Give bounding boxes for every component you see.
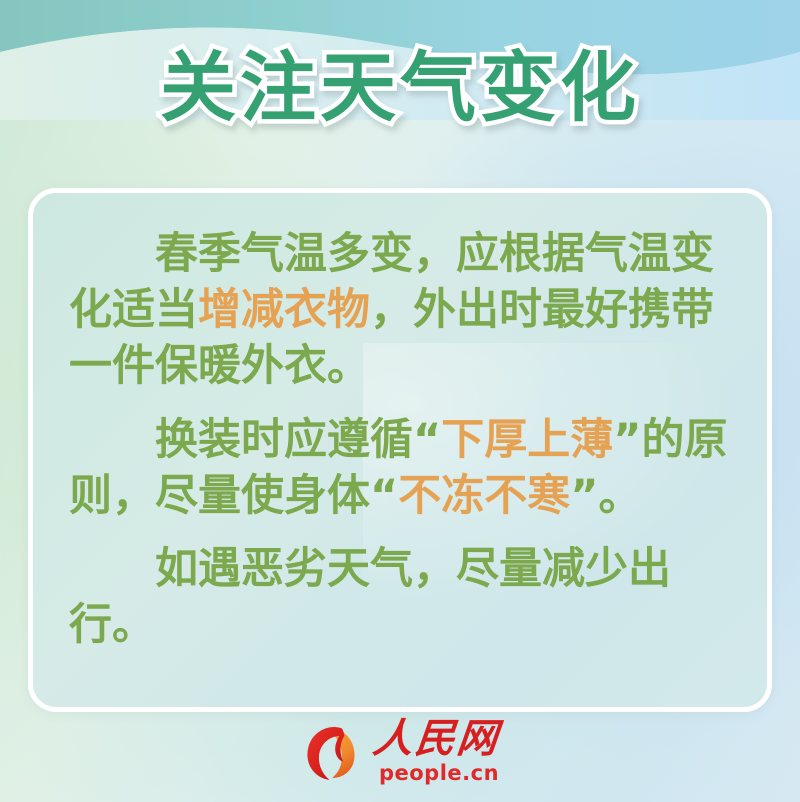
brand-name-cn: 人民网 xyxy=(371,719,501,759)
tip-2-quote-open-2: “ xyxy=(370,471,398,521)
tip-1-segment-highlight: 增减衣物 xyxy=(198,285,370,335)
tip-paragraph-2: 换装时应遵循“下厚上薄”的原则，尽量使身体“不冻不寒”。 xyxy=(69,413,735,525)
tip-2-segment-highlight-1: 下厚上薄 xyxy=(441,415,613,465)
weather-tips-poster: 关注天气变化 春季气温多变，应根据气温变化适当增减衣物，外出时最好携带一件保暖外… xyxy=(0,0,800,802)
tip-2-segment-highlight-2: 不冻不寒 xyxy=(398,471,570,521)
footer-branding: 人民网 people.cn xyxy=(0,719,800,784)
tip-2-quote-close-2: ” xyxy=(570,471,598,521)
tip-2-quote-open-1: “ xyxy=(413,415,441,465)
page-title-text: 关注天气变化 xyxy=(160,46,640,130)
people-cn-swirl-logo-icon xyxy=(301,721,363,783)
tip-2-quote-close-1: ” xyxy=(613,415,641,465)
page-title: 关注天气变化 xyxy=(0,46,800,130)
tip-paragraph-1: 春季气温多变，应根据气温变化适当增减衣物，外出时最好携带一件保暖外衣。 xyxy=(69,227,735,395)
brand-name-en: people.cn xyxy=(379,763,499,784)
brand-text-block: 人民网 people.cn xyxy=(373,719,499,784)
content-card: 春季气温多变，应根据气温变化适当增减衣物，外出时最好携带一件保暖外衣。 换装时应… xyxy=(28,188,772,712)
tip-paragraph-3: 如遇恶劣天气，尽量减少出行。 xyxy=(69,542,735,654)
tip-2-segment-normal-c: 。 xyxy=(599,471,642,521)
tip-3-segment-normal: 如遇恶劣天气，尽量减少出行。 xyxy=(69,544,671,650)
content-card-body: 春季气温多变，应根据气温变化适当增减衣物，外出时最好携带一件保暖外衣。 换装时应… xyxy=(33,193,767,664)
tip-2-segment-normal-a: 换装时应遵循 xyxy=(155,415,413,465)
